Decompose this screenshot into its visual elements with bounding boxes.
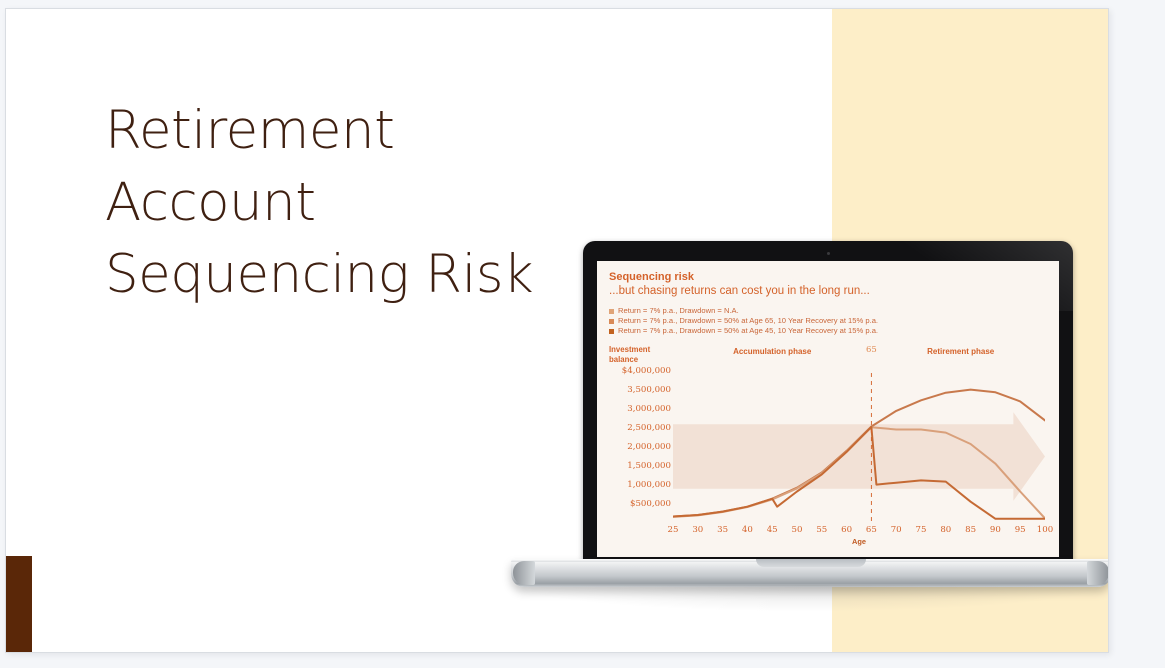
age-65-marker-line	[673, 371, 1045, 523]
x-axis-tick: 70	[891, 525, 902, 535]
title-line-3: Sequencing Risk	[105, 239, 575, 311]
x-axis-tick: 40	[742, 525, 753, 535]
chart-legend: Return = 7% p.a., Drawdown = N.A.Return …	[609, 306, 1047, 336]
legend-swatch	[609, 329, 614, 334]
legend-label: Return = 7% p.a., Drawdown = 50% at Age …	[618, 326, 878, 336]
title-line-2: Account	[105, 167, 575, 239]
laptop-base	[511, 559, 1109, 587]
decorative-accent-bar	[6, 556, 32, 653]
x-axis-tick: 55	[816, 525, 827, 535]
x-axis-tick: 45	[767, 525, 778, 535]
chart-title: Sequencing risk	[609, 271, 1047, 283]
chart-plot-area: Investment balance $4,000,0003,500,0003,…	[609, 345, 1047, 550]
y-axis-tick: $4,000,000	[622, 366, 671, 376]
x-axis-tick: 75	[916, 525, 927, 535]
chart-subtitle: ...but chasing returns can cost you in t…	[609, 285, 1047, 297]
base-left-foot	[513, 561, 535, 585]
legend-label: Return = 7% p.a., Drawdown = N.A.	[618, 306, 739, 316]
x-axis-tick: 90	[990, 525, 1001, 535]
base-notch	[756, 559, 866, 567]
y-axis-tick: 1,000,000	[627, 480, 671, 490]
legend-item: Return = 7% p.a., Drawdown = 50% at Age …	[609, 326, 1047, 336]
x-axis-tick: 80	[940, 525, 951, 535]
annotation-retirement-phase: Retirement phase	[927, 347, 994, 356]
slide-canvas: Retirement Account Sequencing Risk Seque…	[0, 0, 1165, 668]
y-axis-tick: 1,500,000	[627, 461, 671, 471]
x-axis-tick: 65	[866, 525, 877, 535]
legend-item: Return = 7% p.a., Drawdown = N.A.	[609, 306, 1047, 316]
laptop-screen: Sequencing risk ...but chasing returns c…	[597, 261, 1059, 557]
plot-canvas	[673, 371, 1045, 523]
laptop-shadow	[521, 585, 1101, 611]
y-axis-tick: 3,000,000	[627, 404, 671, 414]
legend-item: Return = 7% p.a., Drawdown = 50% at Age …	[609, 316, 1047, 326]
x-axis-tick: 85	[965, 525, 976, 535]
x-axis-tick: 50	[792, 525, 803, 535]
x-axis-tick: 60	[841, 525, 852, 535]
webcam-icon	[827, 252, 830, 255]
y-axis-tick: 2,000,000	[627, 442, 671, 452]
x-axis-tick: 35	[717, 525, 728, 535]
y-axis-label: Investment balance	[609, 345, 650, 365]
x-axis-tick: 25	[668, 525, 679, 535]
x-axis-tick: 95	[1015, 525, 1026, 535]
legend-swatch	[609, 319, 614, 324]
page-title: Retirement Account Sequencing Risk	[105, 95, 575, 311]
legend-label: Return = 7% p.a., Drawdown = 50% at Age …	[618, 316, 878, 326]
y-axis-tick: $500,000	[630, 499, 671, 509]
legend-swatch	[609, 309, 614, 314]
y-axis-tick: 2,500,000	[627, 423, 671, 433]
y-axis-tick: 3,500,000	[627, 385, 671, 395]
x-axis-tick: 100	[1037, 525, 1053, 535]
y-axis-ticks: $4,000,0003,500,0003,000,0002,500,0002,0…	[609, 371, 671, 523]
annotation-accumulation-phase: Accumulation phase	[733, 347, 811, 356]
laptop-lid: Sequencing risk ...but chasing returns c…	[583, 241, 1073, 566]
annotation-age-65: 65	[866, 345, 877, 355]
x-axis-label: Age	[673, 537, 1045, 546]
laptop-mockup: Sequencing risk ...but chasing returns c…	[511, 241, 1109, 601]
base-right-foot	[1087, 561, 1109, 585]
x-axis-tick: 30	[692, 525, 703, 535]
presentation-slide: Retirement Account Sequencing Risk Seque…	[5, 8, 1109, 653]
title-line-1: Retirement	[105, 95, 575, 167]
